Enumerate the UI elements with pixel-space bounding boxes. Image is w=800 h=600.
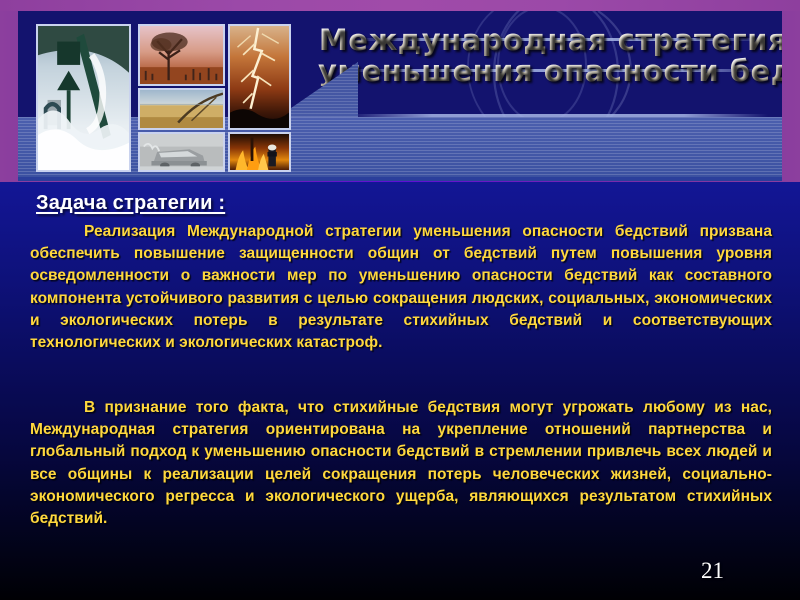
slide-title-line-2: уменьшения опасности бедствий	[318, 56, 782, 87]
paragraph-2-text: В признание того факта, что стихийные бе…	[30, 399, 772, 527]
drought-photo	[138, 24, 225, 86]
paragraph-strategy-goal: Реализация Международной стратегии умень…	[30, 221, 772, 354]
header-plate: Международная стратегия уменьшения опасн…	[18, 11, 782, 181]
lightning-photo	[228, 24, 291, 130]
slide-content: Задача стратегии : Реализация Международ…	[0, 182, 800, 600]
flood-photo	[36, 24, 131, 172]
paragraph-1-text: Реализация Международной стратегии умень…	[30, 223, 772, 351]
paragraph-partnership: В признание того факта, что стихийные бе…	[30, 397, 772, 530]
dry-field-photo	[138, 88, 225, 130]
page-title: Задача стратегии :	[36, 192, 225, 215]
header-bottom-rule	[18, 177, 782, 181]
slide-title-line-1: Международная стратегия	[318, 25, 782, 56]
presentation-slide: Международная стратегия уменьшения опасн…	[0, 0, 800, 600]
header-stripe-panel	[18, 117, 782, 181]
page-number: 21	[701, 558, 724, 584]
slide-header-banner: Международная стратегия уменьшения опасн…	[0, 0, 800, 182]
header-purple-top-band	[0, 0, 800, 11]
slide-title: Международная стратегия уменьшения опасн…	[318, 25, 782, 86]
wildfire-photo	[228, 132, 291, 172]
iced-car-photo	[138, 132, 225, 172]
